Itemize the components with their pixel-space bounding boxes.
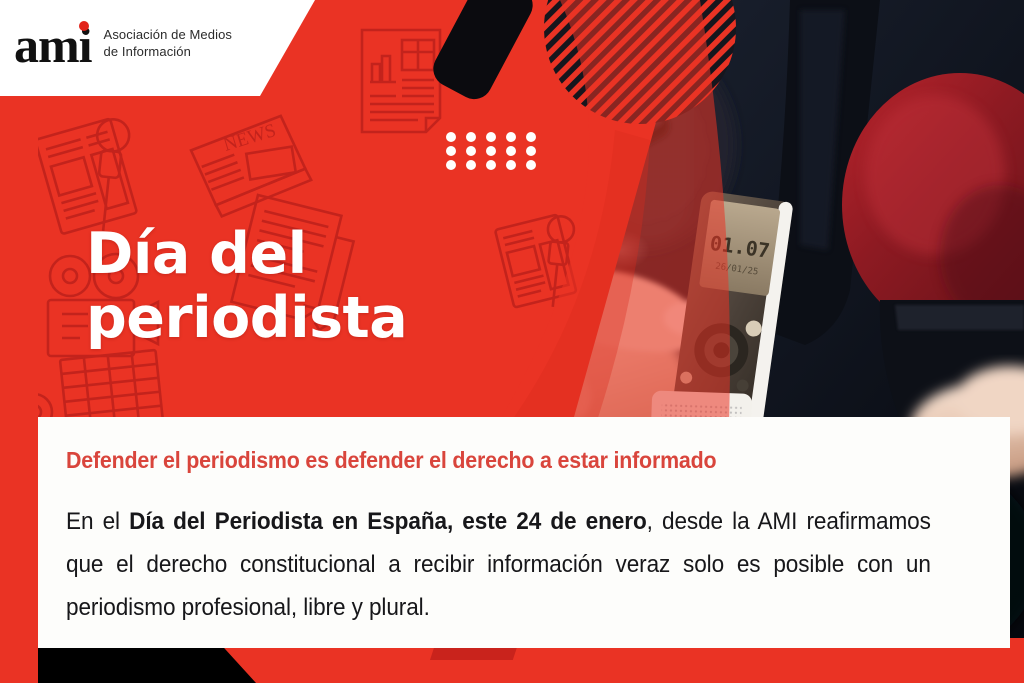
body-segment-bold: Día del Periodista en España, este 24 de…: [129, 508, 646, 535]
logo-i-dot-icon: [79, 21, 89, 31]
logo-plate: ami Asociación de Medios de Información: [0, 0, 315, 96]
logo-lockup: ami Asociación de Medios de Información: [14, 20, 232, 70]
logo-tagline: Asociación de Medios de Información: [104, 26, 232, 60]
left-red-strip: [0, 0, 38, 683]
logo-wordmark: ami: [14, 20, 92, 70]
poster-body-text: En el Día del Periodista en España, este…: [66, 500, 931, 629]
poster-headline: Día del periodista: [86, 222, 506, 350]
body-segment-1: En el: [66, 508, 129, 535]
poster-subtitle: Defender el periodismo es defender el de…: [66, 446, 912, 474]
poster-canvas: 01.07 26/01/25: [0, 0, 1024, 683]
